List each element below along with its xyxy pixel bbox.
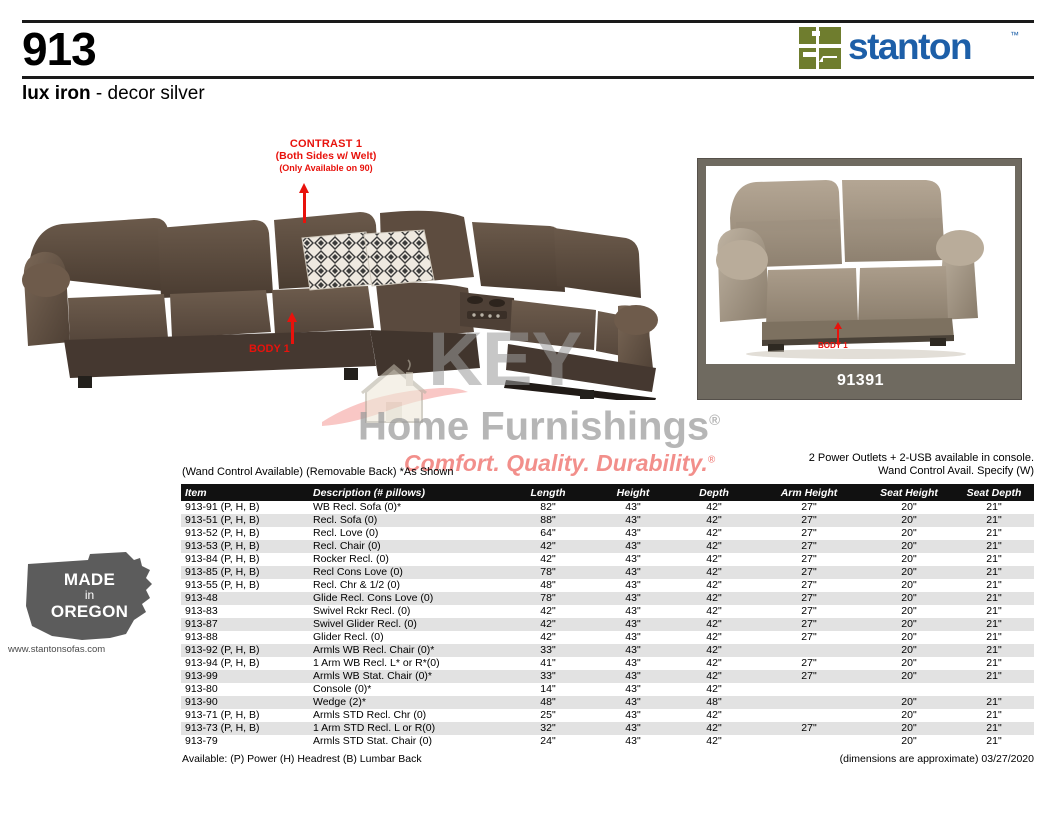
cell-r3-c3: 43"	[592, 540, 674, 553]
cell-r1-c3: 43"	[592, 514, 674, 527]
cell-r14-c2: 14"	[504, 683, 592, 696]
cell-r3-c7: 21"	[954, 540, 1034, 553]
cell-r8-c4: 42"	[674, 605, 754, 618]
header-rule-middle	[22, 76, 1034, 79]
col-header-depth: Depth	[674, 484, 754, 501]
inset-caption-sku: 91391	[706, 368, 1015, 394]
table-row: 913-92 (P, H, B)Armls WB Recl. Chair (0)…	[181, 644, 1034, 657]
stanton-website-url: www.stantonsofas.com	[8, 644, 105, 655]
cell-r6-c0: 913-55 (P, H, B)	[181, 579, 309, 592]
inset-photo-frame	[706, 166, 1015, 364]
cell-r12-c7: 21"	[954, 657, 1034, 670]
cell-r15-c1: Wedge (2)*	[309, 696, 504, 709]
cell-r5-c5: 27"	[754, 566, 864, 579]
table-row: 913-53 (P, H, B)Recl. Chair (0)42"43"42"…	[181, 540, 1034, 553]
cell-r18-c4: 42"	[674, 735, 754, 748]
cell-r17-c3: 43"	[592, 722, 674, 735]
cell-r16-c5	[754, 709, 864, 722]
cell-r7-c4: 42"	[674, 592, 754, 605]
cell-r13-c1: Armls WB Stat. Chair (0)*	[309, 670, 504, 683]
cell-r11-c5	[754, 644, 864, 657]
watermark-home-registered: ®	[709, 412, 720, 429]
table-row: 913-94 (P, H, B)1 Arm WB Recl. L* or R*(…	[181, 657, 1034, 670]
cell-r17-c1: 1 Arm STD Recl. L or R(0)	[309, 722, 504, 735]
cell-r4-c6: 20"	[864, 553, 954, 566]
cell-r4-c7: 21"	[954, 553, 1034, 566]
cell-r14-c4: 42"	[674, 683, 754, 696]
cell-r6-c4: 42"	[674, 579, 754, 592]
cell-r8-c5: 27"	[754, 605, 864, 618]
cell-r3-c2: 42"	[504, 540, 592, 553]
note-wand-control: Wand Control Avail. Specify (W)	[809, 465, 1034, 478]
cell-r6-c1: Recl. Chr & 1/2 (0)	[309, 579, 504, 592]
cell-r4-c0: 913-84 (P, H, B)	[181, 553, 309, 566]
watermark-home-text: Home Furnishings®	[358, 400, 720, 447]
header-rule-top	[22, 20, 1034, 23]
cell-r12-c4: 42"	[674, 657, 754, 670]
cell-r2-c6: 20"	[864, 527, 954, 540]
cell-r7-c7: 21"	[954, 592, 1034, 605]
col-header-seat-height: Seat Height	[864, 484, 954, 501]
cell-r3-c1: Recl. Chair (0)	[309, 540, 504, 553]
cell-r16-c2: 25"	[504, 709, 592, 722]
cell-r10-c2: 42"	[504, 631, 592, 644]
footer-legend: Available: (P) Power (H) Headrest (B) Lu…	[182, 753, 422, 765]
cell-r8-c7: 21"	[954, 605, 1034, 618]
callout-contrast-1: CONTRAST 1 (Both Sides w/ Welt) (Only Av…	[226, 138, 426, 174]
cell-r10-c0: 913-88	[181, 631, 309, 644]
cell-r9-c2: 42"	[504, 618, 592, 631]
table-row: 913-91 (P, H, B)WB Recl. Sofa (0)*82"43"…	[181, 501, 1034, 514]
callout-contrast-line2: (Both Sides w/ Welt)	[226, 150, 426, 162]
cell-r15-c0: 913-90	[181, 696, 309, 709]
col-header-height: Height	[592, 484, 674, 501]
cell-r7-c1: Glide Recl. Cons Love (0)	[309, 592, 504, 605]
cell-r16-c6: 20"	[864, 709, 954, 722]
cell-r13-c5: 27"	[754, 670, 864, 683]
cell-r0-c7: 21"	[954, 501, 1034, 514]
cell-r14-c7	[954, 683, 1034, 696]
cell-r7-c2: 78"	[504, 592, 592, 605]
cell-r12-c2: 41"	[504, 657, 592, 670]
cell-r9-c3: 43"	[592, 618, 674, 631]
cell-r5-c0: 913-85 (P, H, B)	[181, 566, 309, 579]
col-header-item: Item	[181, 484, 309, 501]
table-row: 913-51 (P, H, B)Recl. Sofa (0)88"43"42"2…	[181, 514, 1034, 527]
cell-r8-c3: 43"	[592, 605, 674, 618]
cell-r4-c1: Rocker Recl. (0)	[309, 553, 504, 566]
cell-r6-c7: 21"	[954, 579, 1034, 592]
cell-r4-c4: 42"	[674, 553, 754, 566]
cell-r14-c5	[754, 683, 864, 696]
cell-r5-c6: 20"	[864, 566, 954, 579]
cell-r6-c6: 20"	[864, 579, 954, 592]
col-header-arm-height: Arm Height	[754, 484, 864, 501]
cell-r2-c4: 42"	[674, 527, 754, 540]
cell-r10-c4: 42"	[674, 631, 754, 644]
cell-r6-c2: 48"	[504, 579, 592, 592]
cell-r15-c2: 48"	[504, 696, 592, 709]
fabric-separator: -	[91, 83, 108, 104]
cell-r12-c3: 43"	[592, 657, 674, 670]
cell-r9-c6: 20"	[864, 618, 954, 631]
cell-r10-c7: 21"	[954, 631, 1034, 644]
cell-r5-c7: 21"	[954, 566, 1034, 579]
cell-r1-c6: 20"	[864, 514, 954, 527]
col-header-seat-depth: Seat Depth	[954, 484, 1034, 501]
cell-r11-c0: 913-92 (P, H, B)	[181, 644, 309, 657]
stanton-tm: ™	[1010, 30, 1019, 40]
cell-r5-c1: Recl Cons Love (0)	[309, 566, 504, 579]
cell-r17-c2: 32"	[504, 722, 592, 735]
watermark-tagline-registered: ®	[708, 454, 715, 465]
cell-r17-c5: 27"	[754, 722, 864, 735]
cell-r10-c5: 27"	[754, 631, 864, 644]
table-row: 913-79Armls STD Stat. Chair (0)24"43"42"…	[181, 735, 1034, 748]
cell-r8-c1: Swivel Rckr Recl. (0)	[309, 605, 504, 618]
cell-r11-c4: 42"	[674, 644, 754, 657]
cell-r2-c5: 27"	[754, 527, 864, 540]
cell-r7-c5: 27"	[754, 592, 864, 605]
cell-r18-c3: 43"	[592, 735, 674, 748]
cell-r18-c6: 20"	[864, 735, 954, 748]
cell-r2-c1: Recl. Love (0)	[309, 527, 504, 540]
cell-r16-c3: 43"	[592, 709, 674, 722]
cell-r3-c0: 913-53 (P, H, B)	[181, 540, 309, 553]
table-row: 913-55 (P, H, B)Recl. Chr & 1/2 (0)48"43…	[181, 579, 1034, 592]
cell-r10-c6: 20"	[864, 631, 954, 644]
cell-r5-c3: 43"	[592, 566, 674, 579]
cell-r9-c0: 913-87	[181, 618, 309, 631]
table-row: 913-87Swivel Glider Recl. (0)42"43"42"27…	[181, 618, 1034, 631]
stanton-wordmark: stanton	[848, 25, 971, 69]
page-title: 913	[22, 22, 96, 76]
table-row: 913-52 (P, H, B)Recl. Love (0)64"43"42"2…	[181, 527, 1034, 540]
cell-r1-c4: 42"	[674, 514, 754, 527]
table-row: 913-85 (P, H, B)Recl Cons Love (0)78"43"…	[181, 566, 1034, 579]
sectional-product-image	[20, 180, 680, 400]
cell-r11-c7: 21"	[954, 644, 1034, 657]
cell-r14-c0: 913-80	[181, 683, 309, 696]
cell-r16-c4: 42"	[674, 709, 754, 722]
cell-r5-c4: 42"	[674, 566, 754, 579]
cell-r9-c5: 27"	[754, 618, 864, 631]
col-header-description: Description (# pillows)	[309, 484, 504, 501]
fabric-secondary-label: decor silver	[108, 83, 205, 104]
cell-r4-c2: 42"	[504, 553, 592, 566]
cell-r10-c1: Glider Recl. (0)	[309, 631, 504, 644]
table-row: 913-84 (P, H, B)Rocker Recl. (0)42"43"42…	[181, 553, 1034, 566]
cell-r13-c4: 42"	[674, 670, 754, 683]
oregon-line-made: MADE	[22, 570, 157, 590]
cell-r15-c6: 20"	[864, 696, 954, 709]
cell-r1-c0: 913-51 (P, H, B)	[181, 514, 309, 527]
table-row: 913-99Armls WB Stat. Chair (0)*33"43"42"…	[181, 670, 1034, 683]
note-power-outlets: 2 Power Outlets + 2-USB available in con…	[809, 452, 1034, 465]
stanton-mark-icon	[798, 26, 842, 70]
cell-r3-c4: 42"	[674, 540, 754, 553]
cell-r7-c6: 20"	[864, 592, 954, 605]
cell-r0-c5: 27"	[754, 501, 864, 514]
watermark-home-label: Home Furnishings	[358, 404, 709, 448]
cell-r9-c1: Swivel Glider Recl. (0)	[309, 618, 504, 631]
cell-r18-c1: Armls STD Stat. Chair (0)	[309, 735, 504, 748]
made-in-oregon-badge: MADE in OREGON	[22, 550, 157, 642]
cell-r4-c3: 43"	[592, 553, 674, 566]
col-header-length: Length	[504, 484, 592, 501]
cell-r17-c6: 20"	[864, 722, 954, 735]
cell-r8-c2: 42"	[504, 605, 592, 618]
cell-r1-c2: 88"	[504, 514, 592, 527]
cell-r18-c0: 913-79	[181, 735, 309, 748]
cell-r15-c5	[754, 696, 864, 709]
cell-r16-c0: 913-71 (P, H, B)	[181, 709, 309, 722]
cell-r6-c5: 27"	[754, 579, 864, 592]
table-row: 913-83Swivel Rckr Recl. (0)42"43"42"27"2…	[181, 605, 1034, 618]
cell-r3-c6: 20"	[864, 540, 954, 553]
table-body: 913-91 (P, H, B)WB Recl. Sofa (0)*82"43"…	[181, 501, 1034, 748]
cell-r13-c3: 43"	[592, 670, 674, 683]
cell-r0-c0: 913-91 (P, H, B)	[181, 501, 309, 514]
cell-r13-c2: 33"	[504, 670, 592, 683]
inset-product-panel: BODY 1 91391	[697, 158, 1022, 400]
fabric-subtitle: lux iron - decor silver	[22, 82, 205, 106]
cell-r18-c2: 24"	[504, 735, 592, 748]
cell-r13-c7: 21"	[954, 670, 1034, 683]
cell-r0-c2: 82"	[504, 501, 592, 514]
table-row: 913-73 (P, H, B)1 Arm STD Recl. L or R(0…	[181, 722, 1034, 735]
cell-r2-c2: 64"	[504, 527, 592, 540]
cell-r15-c3: 43"	[592, 696, 674, 709]
loveseat-91391-image	[706, 166, 1015, 364]
cell-r12-c6: 20"	[864, 657, 954, 670]
cell-r17-c4: 42"	[674, 722, 754, 735]
cell-r14-c6	[864, 683, 954, 696]
cell-r11-c6: 20"	[864, 644, 954, 657]
cell-r7-c3: 43"	[592, 592, 674, 605]
cell-r16-c1: Armls STD Recl. Chr (0)	[309, 709, 504, 722]
callout-contrast-line1: CONTRAST 1	[226, 138, 426, 150]
table-row: 913-71 (P, H, B)Armls STD Recl. Chr (0)2…	[181, 709, 1034, 722]
cell-r5-c2: 78"	[504, 566, 592, 579]
cell-r0-c4: 42"	[674, 501, 754, 514]
cell-r2-c7: 21"	[954, 527, 1034, 540]
cell-r10-c3: 43"	[592, 631, 674, 644]
cell-r1-c1: Recl. Sofa (0)	[309, 514, 504, 527]
callout-body-1: BODY 1	[249, 343, 290, 355]
oregon-line-in: in	[22, 588, 157, 602]
cell-r17-c7: 21"	[954, 722, 1034, 735]
table-note-right: 2 Power Outlets + 2-USB available in con…	[809, 452, 1034, 478]
footer-date: (dimensions are approximate) 03/27/2020	[840, 753, 1034, 765]
cell-r6-c3: 43"	[592, 579, 674, 592]
cell-r11-c2: 33"	[504, 644, 592, 657]
cell-r12-c5: 27"	[754, 657, 864, 670]
cell-r8-c6: 20"	[864, 605, 954, 618]
cell-r11-c1: Armls WB Recl. Chair (0)*	[309, 644, 504, 657]
cell-r7-c0: 913-48	[181, 592, 309, 605]
fabric-primary-label: lux iron	[22, 83, 91, 104]
cell-r9-c4: 42"	[674, 618, 754, 631]
cell-r2-c0: 913-52 (P, H, B)	[181, 527, 309, 540]
cell-r18-c7: 21"	[954, 735, 1034, 748]
cell-r0-c3: 43"	[592, 501, 674, 514]
cell-r15-c7: 21"	[954, 696, 1034, 709]
table-row: 913-48Glide Recl. Cons Love (0)78"43"42"…	[181, 592, 1034, 605]
inset-callout-body-1: BODY 1	[818, 341, 848, 350]
cell-r17-c0: 913-73 (P, H, B)	[181, 722, 309, 735]
specifications-table: Item Description (# pillows) Length Heig…	[181, 484, 1034, 748]
cell-r14-c3: 43"	[592, 683, 674, 696]
cell-r0-c6: 20"	[864, 501, 954, 514]
cell-r13-c0: 913-99	[181, 670, 309, 683]
cell-r11-c3: 43"	[592, 644, 674, 657]
cell-r8-c0: 913-83	[181, 605, 309, 618]
table-note-left: (Wand Control Available) (Removable Back…	[182, 466, 453, 479]
cell-r3-c5: 27"	[754, 540, 864, 553]
cell-r1-c7: 21"	[954, 514, 1034, 527]
cell-r13-c6: 20"	[864, 670, 954, 683]
cell-r2-c3: 43"	[592, 527, 674, 540]
cell-r9-c7: 21"	[954, 618, 1034, 631]
table-row: 913-88Glider Recl. (0)42"43"42"27"20"21"	[181, 631, 1034, 644]
cell-r18-c5	[754, 735, 864, 748]
callout-contrast-line3: (Only Available on 90)	[226, 162, 426, 174]
cell-r4-c5: 27"	[754, 553, 864, 566]
table-row: 913-80Console (0)*14"43"42"	[181, 683, 1034, 696]
cell-r12-c0: 913-94 (P, H, B)	[181, 657, 309, 670]
cell-r1-c5: 27"	[754, 514, 864, 527]
stanton-logo: stanton ™	[798, 24, 1030, 72]
cell-r16-c7: 21"	[954, 709, 1034, 722]
table-row: 913-90Wedge (2)*48"43"48"20"21"	[181, 696, 1034, 709]
cell-r12-c1: 1 Arm WB Recl. L* or R*(0)	[309, 657, 504, 670]
cell-r14-c1: Console (0)*	[309, 683, 504, 696]
cell-r0-c1: WB Recl. Sofa (0)*	[309, 501, 504, 514]
oregon-line-oregon: OREGON	[22, 602, 157, 622]
table-header-row: Item Description (# pillows) Length Heig…	[181, 484, 1034, 501]
cell-r15-c4: 48"	[674, 696, 754, 709]
